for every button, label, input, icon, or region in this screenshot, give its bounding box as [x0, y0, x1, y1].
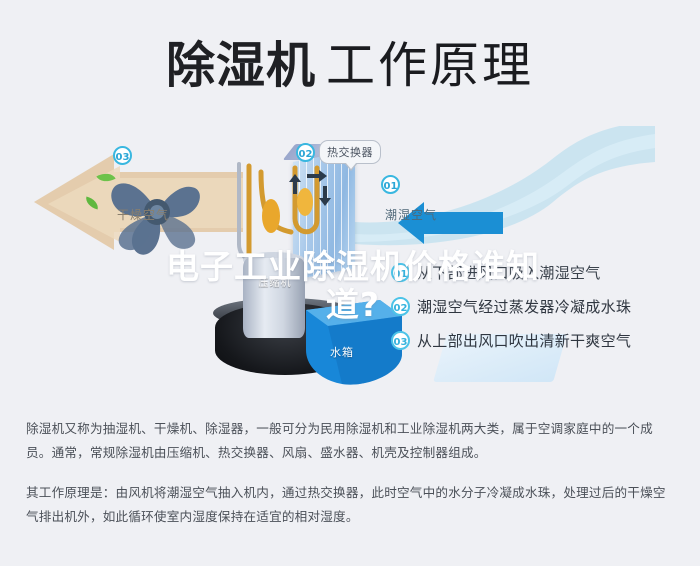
- step-text-03: 从上部出风口吹出清新干爽空气: [417, 330, 631, 351]
- step-number-01: 01: [391, 263, 410, 282]
- machine-internals: 压缩机 水箱: [205, 138, 370, 388]
- step-text-01: 从下部进风口吸入潮湿空气: [417, 262, 601, 283]
- steps-list: 01 从下部进风口吸入潮湿空气 02 潮湿空气经过蒸发器冷凝成水珠 03 从上部…: [391, 255, 681, 357]
- step-number-03: 03: [391, 331, 410, 350]
- title-bold-part: 除湿机: [166, 37, 316, 94]
- callout-heat-exchanger: 热交换器: [319, 140, 381, 164]
- step-text-02: 潮湿空气经过蒸发器冷凝成水珠: [417, 296, 631, 317]
- compressor-label: 压缩机: [247, 274, 303, 289]
- step-item-03: 03 从上部出风口吹出清新干爽空气: [391, 323, 681, 357]
- page-title: 除湿机工作原理: [0, 26, 700, 97]
- step-item-02: 02 潮湿空气经过蒸发器冷凝成水珠: [391, 289, 681, 323]
- title-light-part: 工作原理: [326, 37, 534, 94]
- infographic-page: 除湿机工作原理: [0, 0, 700, 566]
- step-number-02: 02: [391, 297, 410, 316]
- water-tank-label: 水箱: [330, 344, 354, 360]
- compressor-body: [243, 258, 305, 338]
- caption-dry-air: 干燥空气: [117, 206, 169, 223]
- badge-02: 02: [296, 143, 315, 162]
- badge-01: 01: [381, 175, 400, 194]
- caption-humid-air: 潮湿空气: [385, 206, 437, 223]
- step-item-01: 01 从下部进风口吸入潮湿空气: [391, 255, 681, 289]
- body-text: 除湿机又称为抽湿机、干燥机、除湿器，一般可分为民用除湿机和工业除湿机两大类，属于…: [26, 417, 676, 545]
- paragraph-1: 除湿机又称为抽湿机、干燥机、除湿器，一般可分为民用除湿机和工业除湿机两大类，属于…: [26, 417, 676, 465]
- paragraph-2: 其工作原理是：由风机将潮湿空气抽入机内，通过热交换器，此时空气中的水分子冷凝成水…: [26, 481, 676, 529]
- badge-03: 03: [113, 146, 132, 165]
